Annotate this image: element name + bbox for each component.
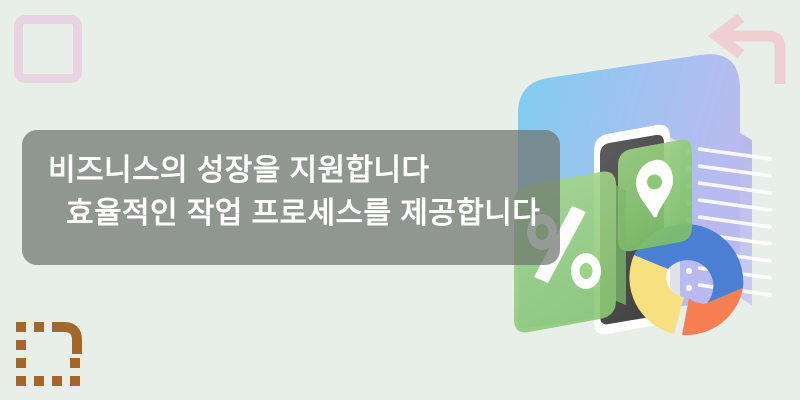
headline-line-2: 효율적인 작업 프로세스를 제공합니다 [48, 193, 534, 236]
rounded-square-outline-icon [14, 15, 82, 83]
headline-line-1: 비즈니스의 성장을 지원합니다 [48, 150, 534, 193]
location-pin-card [618, 140, 692, 252]
headline-panel: 비즈니스의 성장을 지원합니다 효율적인 작업 프로세스를 제공합니다 [22, 130, 560, 265]
banner-root: 비즈니스의 성장을 지원합니다 효율적인 작업 프로세스를 제공합니다 [0, 0, 800, 400]
dashed-corner-frame-icon [16, 314, 90, 388]
